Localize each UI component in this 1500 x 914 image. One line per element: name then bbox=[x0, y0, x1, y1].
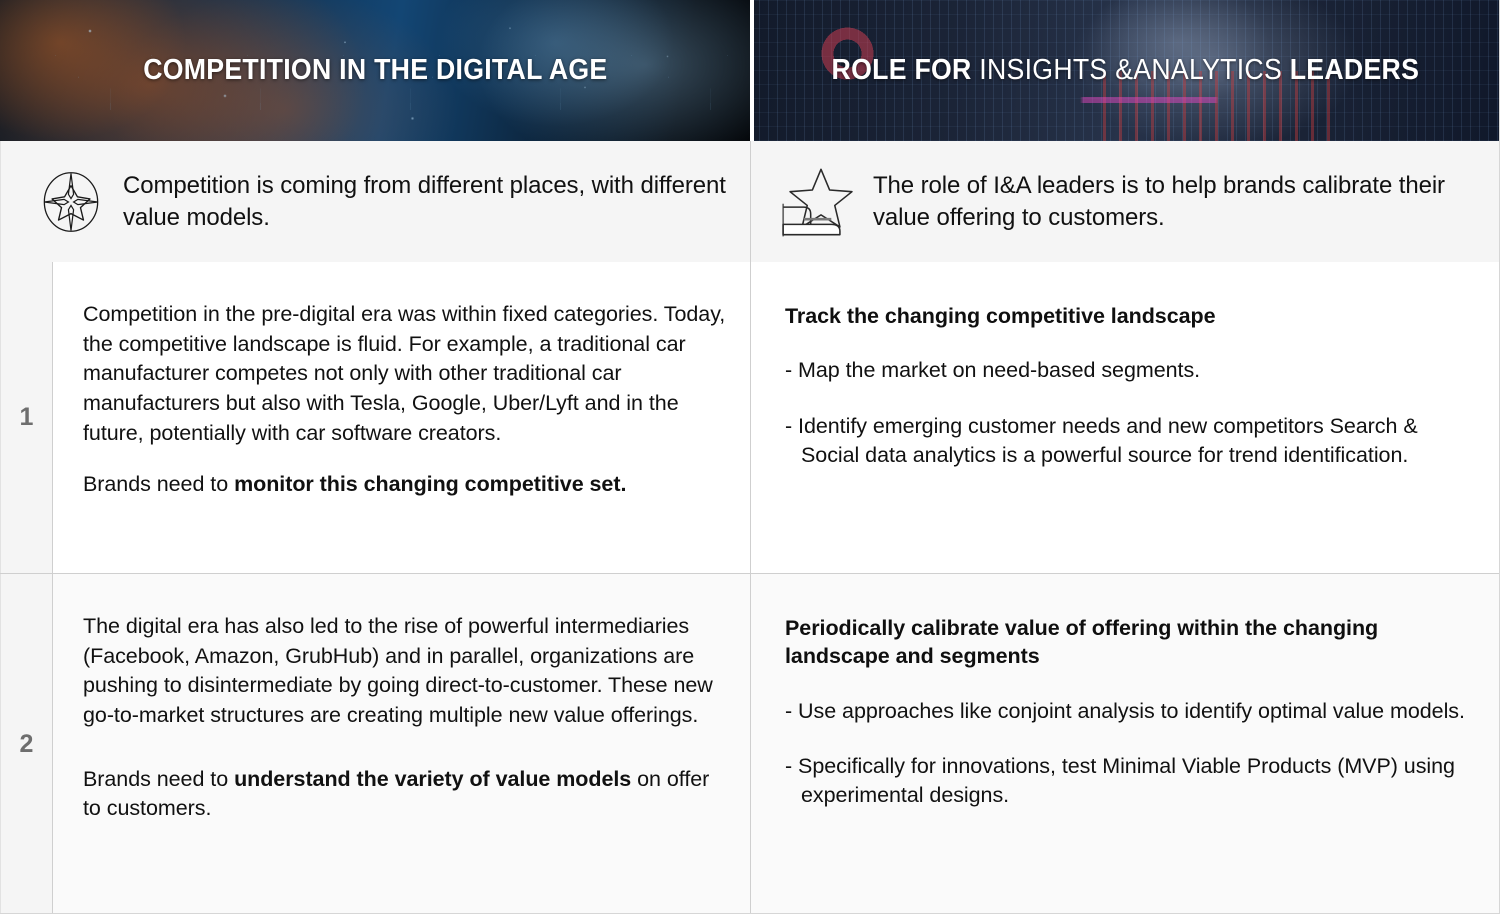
row-2-right-cell: Periodically calibrate value of offering… bbox=[751, 574, 1500, 914]
subtitle-left-text: Competition is coming from different pla… bbox=[123, 170, 734, 232]
row-2-paragraph-2: Brands need to understand the variety of… bbox=[83, 765, 728, 824]
row-2-right-heading: Periodically calibrate value of offering… bbox=[785, 614, 1474, 671]
row-1-right-half: Track the changing competitive landscape… bbox=[750, 262, 1500, 573]
subtitle-cell-left: Competition is coming from different pla… bbox=[0, 141, 750, 262]
row-1-left-half: 1 Competition in the pre-digital era was… bbox=[0, 262, 750, 573]
banner-vertical-divider bbox=[750, 0, 754, 141]
subtitle-right-text: The role of I&A leaders is to help brand… bbox=[873, 170, 1484, 232]
row-2-right-half: Periodically calibrate value of offering… bbox=[750, 574, 1500, 914]
row-1-paragraph-2-lead: Brands need to bbox=[83, 472, 234, 496]
row-2-right-bullet-2: - Specifically for innovations, test Min… bbox=[785, 752, 1474, 810]
subtitle-row: Competition is coming from different pla… bbox=[0, 141, 1500, 262]
compass-star-icon bbox=[19, 159, 123, 245]
banner-header-row: COMPETITION IN THE DIGITAL AGE ROLE FOR … bbox=[0, 0, 1500, 141]
subtitle-cell-right: The role of I&A leaders is to help brand… bbox=[750, 141, 1500, 262]
banner-right-title-part-2: INSIGHTS &ANALYTICS bbox=[979, 54, 1289, 86]
row-1-paragraph-1: Competition in the pre-digital era was w… bbox=[83, 300, 728, 448]
banner-right-title-part-1: ROLE FOR bbox=[831, 54, 979, 86]
content-row-1: 1 Competition in the pre-digital era was… bbox=[0, 262, 1500, 573]
row-number-2: 2 bbox=[1, 574, 53, 914]
row-1-right-cell: Track the changing competitive landscape… bbox=[751, 262, 1500, 573]
row-2-right-bullet-1: - Use approaches like conjoint analysis … bbox=[785, 697, 1474, 726]
content-row-2: 2 The digital era has also led to the ri… bbox=[0, 574, 1500, 914]
row-1-left-cell: Competition in the pre-digital era was w… bbox=[53, 262, 750, 573]
row-2-paragraph-2-lead: Brands need to bbox=[83, 767, 234, 791]
banner-left-title-text: COMPETITION IN THE DIGITAL AGE bbox=[143, 54, 607, 86]
banner-right: ROLE FOR INSIGHTS &ANALYTICS LEADERS bbox=[750, 0, 1500, 141]
banner-right-title-part-3: LEADERS bbox=[1289, 54, 1418, 86]
row-1-paragraph-2-bold: monitor this changing competitive set. bbox=[234, 472, 626, 496]
row-2-left-cell: The digital era has also led to the rise… bbox=[53, 574, 750, 914]
row-1-right-heading: Track the changing competitive landscape bbox=[785, 302, 1474, 330]
comparison-table-page: COMPETITION IN THE DIGITAL AGE ROLE FOR … bbox=[0, 0, 1500, 914]
banner-right-title: ROLE FOR INSIGHTS &ANALYTICS LEADERS bbox=[831, 54, 1419, 87]
row-2-paragraph-1: The digital era has also led to the rise… bbox=[83, 612, 728, 731]
banner-left-title: COMPETITION IN THE DIGITAL AGE bbox=[143, 54, 607, 87]
star-podium-icon bbox=[769, 159, 873, 245]
row-2-left-half: 2 The digital era has also led to the ri… bbox=[0, 574, 750, 914]
row-number-1: 1 bbox=[1, 262, 53, 573]
row-1-paragraph-2: Brands need to monitor this changing com… bbox=[83, 470, 728, 500]
row-2-paragraph-2-bold: understand the variety of value models bbox=[234, 767, 631, 791]
row-1-right-bullet-2: - Identify emerging customer needs and n… bbox=[785, 412, 1474, 470]
banner-left: COMPETITION IN THE DIGITAL AGE bbox=[0, 0, 750, 141]
row-1-right-bullet-1: - Map the market on need-based segments. bbox=[785, 356, 1474, 385]
